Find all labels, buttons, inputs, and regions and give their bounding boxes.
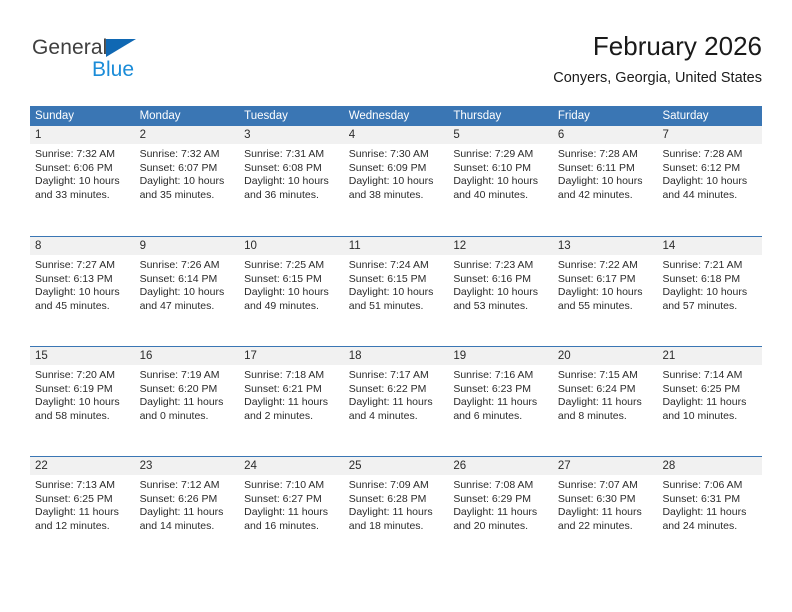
- daylight-text-line1: Daylight: 11 hours: [558, 396, 653, 410]
- day-number-band: 3: [239, 126, 344, 144]
- weekday-header-sunday: Sunday: [30, 106, 135, 126]
- day-cell[interactable]: 18 Sunrise: 7:17 AM Sunset: 6:22 PM Dayl…: [344, 347, 449, 456]
- daylight-text-line2: and 57 minutes.: [662, 300, 757, 314]
- day-details: Sunrise: 7:23 AM Sunset: 6:16 PM Dayligh…: [448, 255, 553, 313]
- sunset-text: Sunset: 6:25 PM: [662, 383, 757, 397]
- day-cell[interactable]: 17 Sunrise: 7:18 AM Sunset: 6:21 PM Dayl…: [239, 347, 344, 456]
- day-cell[interactable]: 25 Sunrise: 7:09 AM Sunset: 6:28 PM Dayl…: [344, 457, 449, 566]
- day-number: 18: [344, 347, 449, 365]
- sunset-text: Sunset: 6:24 PM: [558, 383, 653, 397]
- day-number: 16: [135, 347, 240, 365]
- day-details: Sunrise: 7:09 AM Sunset: 6:28 PM Dayligh…: [344, 475, 449, 533]
- day-details: Sunrise: 7:25 AM Sunset: 6:15 PM Dayligh…: [239, 255, 344, 313]
- day-number-band: 13: [553, 237, 658, 255]
- daylight-text-line2: and 6 minutes.: [453, 410, 548, 424]
- sunset-text: Sunset: 6:14 PM: [140, 273, 235, 287]
- day-number: 25: [344, 457, 449, 475]
- sunrise-text: Sunrise: 7:18 AM: [244, 369, 339, 383]
- daylight-text-line2: and 2 minutes.: [244, 410, 339, 424]
- day-cell[interactable]: 3 Sunrise: 7:31 AM Sunset: 6:08 PM Dayli…: [239, 126, 344, 236]
- day-number: 26: [448, 457, 553, 475]
- daylight-text-line2: and 58 minutes.: [35, 410, 130, 424]
- logo-triangle-icon: [106, 39, 136, 57]
- daylight-text-line2: and 20 minutes.: [453, 520, 548, 534]
- sunset-text: Sunset: 6:23 PM: [453, 383, 548, 397]
- daylight-text-line2: and 45 minutes.: [35, 300, 130, 314]
- day-details: Sunrise: 7:22 AM Sunset: 6:17 PM Dayligh…: [553, 255, 658, 313]
- daylight-text-line2: and 40 minutes.: [453, 189, 548, 203]
- day-number-band: 24: [239, 457, 344, 475]
- day-number: 23: [135, 457, 240, 475]
- page-header: General Blue February 2026 Conyers, Geor…: [30, 30, 762, 98]
- day-number: 1: [30, 126, 135, 144]
- sunset-text: Sunset: 6:12 PM: [662, 162, 757, 176]
- day-cell[interactable]: 9 Sunrise: 7:26 AM Sunset: 6:14 PM Dayli…: [135, 237, 240, 346]
- calendar-grid: Sunday Monday Tuesday Wednesday Thursday…: [30, 106, 762, 566]
- day-details: Sunrise: 7:27 AM Sunset: 6:13 PM Dayligh…: [30, 255, 135, 313]
- daylight-text-line1: Daylight: 11 hours: [662, 396, 757, 410]
- day-number-band: 18: [344, 347, 449, 365]
- day-number-band: 1: [30, 126, 135, 144]
- sunrise-text: Sunrise: 7:08 AM: [453, 479, 548, 493]
- day-cell[interactable]: 21 Sunrise: 7:14 AM Sunset: 6:25 PM Dayl…: [657, 347, 762, 456]
- sunset-text: Sunset: 6:06 PM: [35, 162, 130, 176]
- day-details: Sunrise: 7:08 AM Sunset: 6:29 PM Dayligh…: [448, 475, 553, 533]
- daylight-text-line1: Daylight: 11 hours: [453, 396, 548, 410]
- sunrise-text: Sunrise: 7:16 AM: [453, 369, 548, 383]
- day-cell[interactable]: 20 Sunrise: 7:15 AM Sunset: 6:24 PM Dayl…: [553, 347, 658, 456]
- daylight-text-line1: Daylight: 10 hours: [244, 286, 339, 300]
- day-cell[interactable]: 16 Sunrise: 7:19 AM Sunset: 6:20 PM Dayl…: [135, 347, 240, 456]
- day-number-band: 4: [344, 126, 449, 144]
- day-number: 19: [448, 347, 553, 365]
- sunrise-text: Sunrise: 7:30 AM: [349, 148, 444, 162]
- day-details: Sunrise: 7:31 AM Sunset: 6:08 PM Dayligh…: [239, 144, 344, 202]
- page-subtitle: Conyers, Georgia, United States: [553, 67, 762, 89]
- daylight-text-line1: Daylight: 11 hours: [244, 506, 339, 520]
- daylight-text-line2: and 53 minutes.: [453, 300, 548, 314]
- sunrise-text: Sunrise: 7:22 AM: [558, 259, 653, 273]
- day-number: 14: [657, 237, 762, 255]
- day-number: 4: [344, 126, 449, 144]
- sunset-text: Sunset: 6:09 PM: [349, 162, 444, 176]
- daylight-text-line2: and 4 minutes.: [349, 410, 444, 424]
- day-details: Sunrise: 7:14 AM Sunset: 6:25 PM Dayligh…: [657, 365, 762, 423]
- day-number: 22: [30, 457, 135, 475]
- day-details: Sunrise: 7:20 AM Sunset: 6:19 PM Dayligh…: [30, 365, 135, 423]
- day-details: Sunrise: 7:21 AM Sunset: 6:18 PM Dayligh…: [657, 255, 762, 313]
- daylight-text-line2: and 8 minutes.: [558, 410, 653, 424]
- sunset-text: Sunset: 6:28 PM: [349, 493, 444, 507]
- sunset-text: Sunset: 6:22 PM: [349, 383, 444, 397]
- day-details: Sunrise: 7:30 AM Sunset: 6:09 PM Dayligh…: [344, 144, 449, 202]
- sunset-text: Sunset: 6:27 PM: [244, 493, 339, 507]
- daylight-text-line1: Daylight: 10 hours: [35, 396, 130, 410]
- daylight-text-line1: Daylight: 10 hours: [35, 286, 130, 300]
- sunrise-text: Sunrise: 7:24 AM: [349, 259, 444, 273]
- day-number-band: 23: [135, 457, 240, 475]
- weekday-header-tuesday: Tuesday: [239, 106, 344, 126]
- day-number-band: 17: [239, 347, 344, 365]
- daylight-text-line1: Daylight: 11 hours: [349, 396, 444, 410]
- sunrise-text: Sunrise: 7:32 AM: [35, 148, 130, 162]
- day-details: Sunrise: 7:12 AM Sunset: 6:26 PM Dayligh…: [135, 475, 240, 533]
- general-blue-logo: General Blue: [32, 36, 232, 88]
- daylight-text-line1: Daylight: 11 hours: [453, 506, 548, 520]
- sunset-text: Sunset: 6:30 PM: [558, 493, 653, 507]
- sunset-text: Sunset: 6:15 PM: [349, 273, 444, 287]
- day-cell[interactable]: 26 Sunrise: 7:08 AM Sunset: 6:29 PM Dayl…: [448, 457, 553, 566]
- daylight-text-line2: and 51 minutes.: [349, 300, 444, 314]
- day-details: Sunrise: 7:29 AM Sunset: 6:10 PM Dayligh…: [448, 144, 553, 202]
- daylight-text-line1: Daylight: 11 hours: [349, 506, 444, 520]
- daylight-text-line1: Daylight: 10 hours: [558, 175, 653, 189]
- weekday-header-saturday: Saturday: [657, 106, 762, 126]
- day-cell[interactable]: 19 Sunrise: 7:16 AM Sunset: 6:23 PM Dayl…: [448, 347, 553, 456]
- sunset-text: Sunset: 6:20 PM: [140, 383, 235, 397]
- sunset-text: Sunset: 6:19 PM: [35, 383, 130, 397]
- daylight-text-line2: and 10 minutes.: [662, 410, 757, 424]
- day-cell[interactable]: 11 Sunrise: 7:24 AM Sunset: 6:15 PM Dayl…: [344, 237, 449, 346]
- day-number-band: 12: [448, 237, 553, 255]
- sunrise-text: Sunrise: 7:32 AM: [140, 148, 235, 162]
- day-number-band: 11: [344, 237, 449, 255]
- day-cell[interactable]: 14 Sunrise: 7:21 AM Sunset: 6:18 PM Dayl…: [657, 237, 762, 346]
- day-number-band: 27: [553, 457, 658, 475]
- daylight-text-line2: and 35 minutes.: [140, 189, 235, 203]
- sunrise-text: Sunrise: 7:29 AM: [453, 148, 548, 162]
- day-number-band: 7: [657, 126, 762, 144]
- sunrise-text: Sunrise: 7:10 AM: [244, 479, 339, 493]
- sunset-text: Sunset: 6:26 PM: [140, 493, 235, 507]
- sunset-text: Sunset: 6:25 PM: [35, 493, 130, 507]
- day-number: 21: [657, 347, 762, 365]
- daylight-text-line1: Daylight: 10 hours: [558, 286, 653, 300]
- day-cell[interactable]: 28 Sunrise: 7:06 AM Sunset: 6:31 PM Dayl…: [657, 457, 762, 566]
- sunset-text: Sunset: 6:16 PM: [453, 273, 548, 287]
- day-details: Sunrise: 7:32 AM Sunset: 6:07 PM Dayligh…: [135, 144, 240, 202]
- weekday-header-row: Sunday Monday Tuesday Wednesday Thursday…: [30, 106, 762, 126]
- daylight-text-line2: and 22 minutes.: [558, 520, 653, 534]
- daylight-text-line2: and 38 minutes.: [349, 189, 444, 203]
- week-row: 1 Sunrise: 7:32 AM Sunset: 6:06 PM Dayli…: [30, 126, 762, 236]
- daylight-text-line1: Daylight: 11 hours: [244, 396, 339, 410]
- day-number: 3: [239, 126, 344, 144]
- day-details: Sunrise: 7:06 AM Sunset: 6:31 PM Dayligh…: [657, 475, 762, 533]
- daylight-text-line1: Daylight: 10 hours: [662, 175, 757, 189]
- day-details: Sunrise: 7:28 AM Sunset: 6:11 PM Dayligh…: [553, 144, 658, 202]
- daylight-text-line2: and 55 minutes.: [558, 300, 653, 314]
- day-number-band: 2: [135, 126, 240, 144]
- daylight-text-line1: Daylight: 10 hours: [349, 286, 444, 300]
- daylight-text-line1: Daylight: 10 hours: [453, 286, 548, 300]
- day-cell[interactable]: 1 Sunrise: 7:32 AM Sunset: 6:06 PM Dayli…: [30, 126, 135, 236]
- day-cell[interactable]: 6 Sunrise: 7:28 AM Sunset: 6:11 PM Dayli…: [553, 126, 658, 236]
- daylight-text-line1: Daylight: 11 hours: [140, 506, 235, 520]
- day-cell[interactable]: 27 Sunrise: 7:07 AM Sunset: 6:30 PM Dayl…: [553, 457, 658, 566]
- day-number-band: 6: [553, 126, 658, 144]
- daylight-text-line1: Daylight: 10 hours: [140, 286, 235, 300]
- day-number-band: 19: [448, 347, 553, 365]
- weekday-header-wednesday: Wednesday: [344, 106, 449, 126]
- week-row: 22 Sunrise: 7:13 AM Sunset: 6:25 PM Dayl…: [30, 456, 762, 566]
- day-cell[interactable]: 12 Sunrise: 7:23 AM Sunset: 6:16 PM Dayl…: [448, 237, 553, 346]
- day-details: Sunrise: 7:32 AM Sunset: 6:06 PM Dayligh…: [30, 144, 135, 202]
- day-number: 10: [239, 237, 344, 255]
- daylight-text-line2: and 49 minutes.: [244, 300, 339, 314]
- sunset-text: Sunset: 6:15 PM: [244, 273, 339, 287]
- day-number-band: 10: [239, 237, 344, 255]
- sunrise-text: Sunrise: 7:14 AM: [662, 369, 757, 383]
- week-row: 15 Sunrise: 7:20 AM Sunset: 6:19 PM Dayl…: [30, 346, 762, 456]
- day-number: 20: [553, 347, 658, 365]
- day-number-band: 21: [657, 347, 762, 365]
- daylight-text-line1: Daylight: 10 hours: [349, 175, 444, 189]
- day-cell[interactable]: 15 Sunrise: 7:20 AM Sunset: 6:19 PM Dayl…: [30, 347, 135, 456]
- day-number: 12: [448, 237, 553, 255]
- sunrise-text: Sunrise: 7:23 AM: [453, 259, 548, 273]
- day-number: 6: [553, 126, 658, 144]
- sunrise-text: Sunrise: 7:25 AM: [244, 259, 339, 273]
- day-number: 17: [239, 347, 344, 365]
- day-number: 24: [239, 457, 344, 475]
- daylight-text-line1: Daylight: 11 hours: [662, 506, 757, 520]
- day-number-band: 16: [135, 347, 240, 365]
- day-details: Sunrise: 7:13 AM Sunset: 6:25 PM Dayligh…: [30, 475, 135, 533]
- day-cell[interactable]: 2 Sunrise: 7:32 AM Sunset: 6:07 PM Dayli…: [135, 126, 240, 236]
- sunset-text: Sunset: 6:21 PM: [244, 383, 339, 397]
- weekday-header-friday: Friday: [553, 106, 658, 126]
- day-number: 2: [135, 126, 240, 144]
- daylight-text-line1: Daylight: 11 hours: [35, 506, 130, 520]
- daylight-text-line2: and 33 minutes.: [35, 189, 130, 203]
- day-cell[interactable]: 5 Sunrise: 7:29 AM Sunset: 6:10 PM Dayli…: [448, 126, 553, 236]
- sunrise-text: Sunrise: 7:17 AM: [349, 369, 444, 383]
- logo-text-blue: Blue: [92, 58, 134, 82]
- daylight-text-line2: and 36 minutes.: [244, 189, 339, 203]
- calendar-page: General Blue February 2026 Conyers, Geor…: [0, 0, 792, 612]
- sunset-text: Sunset: 6:18 PM: [662, 273, 757, 287]
- sunset-text: Sunset: 6:31 PM: [662, 493, 757, 507]
- sunrise-text: Sunrise: 7:06 AM: [662, 479, 757, 493]
- daylight-text-line2: and 44 minutes.: [662, 189, 757, 203]
- day-details: Sunrise: 7:18 AM Sunset: 6:21 PM Dayligh…: [239, 365, 344, 423]
- daylight-text-line1: Daylight: 11 hours: [558, 506, 653, 520]
- day-details: Sunrise: 7:17 AM Sunset: 6:22 PM Dayligh…: [344, 365, 449, 423]
- day-number: 13: [553, 237, 658, 255]
- day-cell[interactable]: 8 Sunrise: 7:27 AM Sunset: 6:13 PM Dayli…: [30, 237, 135, 346]
- day-cell[interactable]: 4 Sunrise: 7:30 AM Sunset: 6:09 PM Dayli…: [344, 126, 449, 236]
- sunrise-text: Sunrise: 7:28 AM: [558, 148, 653, 162]
- day-number-band: 28: [657, 457, 762, 475]
- day-cell[interactable]: 23 Sunrise: 7:12 AM Sunset: 6:26 PM Dayl…: [135, 457, 240, 566]
- daylight-text-line2: and 47 minutes.: [140, 300, 235, 314]
- day-number-band: 26: [448, 457, 553, 475]
- day-details: Sunrise: 7:24 AM Sunset: 6:15 PM Dayligh…: [344, 255, 449, 313]
- day-details: Sunrise: 7:07 AM Sunset: 6:30 PM Dayligh…: [553, 475, 658, 533]
- weekday-header-monday: Monday: [135, 106, 240, 126]
- day-number-band: 5: [448, 126, 553, 144]
- sunrise-text: Sunrise: 7:19 AM: [140, 369, 235, 383]
- sunset-text: Sunset: 6:08 PM: [244, 162, 339, 176]
- day-number: 5: [448, 126, 553, 144]
- day-details: Sunrise: 7:10 AM Sunset: 6:27 PM Dayligh…: [239, 475, 344, 533]
- day-number: 28: [657, 457, 762, 475]
- day-number: 27: [553, 457, 658, 475]
- daylight-text-line2: and 14 minutes.: [140, 520, 235, 534]
- daylight-text-line1: Daylight: 10 hours: [244, 175, 339, 189]
- sunrise-text: Sunrise: 7:20 AM: [35, 369, 130, 383]
- day-cell[interactable]: 7 Sunrise: 7:28 AM Sunset: 6:12 PM Dayli…: [657, 126, 762, 236]
- day-cell[interactable]: 13 Sunrise: 7:22 AM Sunset: 6:17 PM Dayl…: [553, 237, 658, 346]
- sunrise-text: Sunrise: 7:15 AM: [558, 369, 653, 383]
- day-cell[interactable]: 22 Sunrise: 7:13 AM Sunset: 6:25 PM Dayl…: [30, 457, 135, 566]
- sunset-text: Sunset: 6:07 PM: [140, 162, 235, 176]
- sunset-text: Sunset: 6:29 PM: [453, 493, 548, 507]
- daylight-text-line1: Daylight: 10 hours: [35, 175, 130, 189]
- daylight-text-line2: and 24 minutes.: [662, 520, 757, 534]
- day-number: 9: [135, 237, 240, 255]
- day-cell[interactable]: 24 Sunrise: 7:10 AM Sunset: 6:27 PM Dayl…: [239, 457, 344, 566]
- sunrise-text: Sunrise: 7:28 AM: [662, 148, 757, 162]
- sunset-text: Sunset: 6:10 PM: [453, 162, 548, 176]
- sunset-text: Sunset: 6:17 PM: [558, 273, 653, 287]
- sunrise-text: Sunrise: 7:27 AM: [35, 259, 130, 273]
- sunrise-text: Sunrise: 7:13 AM: [35, 479, 130, 493]
- day-number-band: 15: [30, 347, 135, 365]
- day-cell[interactable]: 10 Sunrise: 7:25 AM Sunset: 6:15 PM Dayl…: [239, 237, 344, 346]
- page-title: February 2026: [553, 30, 762, 62]
- sunrise-text: Sunrise: 7:21 AM: [662, 259, 757, 273]
- daylight-text-line1: Daylight: 10 hours: [662, 286, 757, 300]
- day-details: Sunrise: 7:16 AM Sunset: 6:23 PM Dayligh…: [448, 365, 553, 423]
- weekday-header-thursday: Thursday: [448, 106, 553, 126]
- daylight-text-line2: and 0 minutes.: [140, 410, 235, 424]
- daylight-text-line2: and 16 minutes.: [244, 520, 339, 534]
- day-details: Sunrise: 7:19 AM Sunset: 6:20 PM Dayligh…: [135, 365, 240, 423]
- sunrise-text: Sunrise: 7:12 AM: [140, 479, 235, 493]
- day-number: 8: [30, 237, 135, 255]
- daylight-text-line1: Daylight: 10 hours: [453, 175, 548, 189]
- day-number-band: 8: [30, 237, 135, 255]
- day-details: Sunrise: 7:26 AM Sunset: 6:14 PM Dayligh…: [135, 255, 240, 313]
- daylight-text-line2: and 12 minutes.: [35, 520, 130, 534]
- daylight-text-line1: Daylight: 10 hours: [140, 175, 235, 189]
- title-block: February 2026 Conyers, Georgia, United S…: [553, 30, 762, 89]
- day-number-band: 20: [553, 347, 658, 365]
- sunrise-text: Sunrise: 7:26 AM: [140, 259, 235, 273]
- day-number-band: 22: [30, 457, 135, 475]
- day-number-band: 14: [657, 237, 762, 255]
- day-number: 15: [30, 347, 135, 365]
- day-number-band: 9: [135, 237, 240, 255]
- daylight-text-line2: and 18 minutes.: [349, 520, 444, 534]
- sunrise-text: Sunrise: 7:07 AM: [558, 479, 653, 493]
- day-number: 7: [657, 126, 762, 144]
- day-details: Sunrise: 7:15 AM Sunset: 6:24 PM Dayligh…: [553, 365, 658, 423]
- day-number: 11: [344, 237, 449, 255]
- logo-text-general: General: [32, 36, 107, 60]
- day-number-band: 25: [344, 457, 449, 475]
- sunset-text: Sunset: 6:13 PM: [35, 273, 130, 287]
- sunrise-text: Sunrise: 7:31 AM: [244, 148, 339, 162]
- sunset-text: Sunset: 6:11 PM: [558, 162, 653, 176]
- daylight-text-line1: Daylight: 11 hours: [140, 396, 235, 410]
- day-details: Sunrise: 7:28 AM Sunset: 6:12 PM Dayligh…: [657, 144, 762, 202]
- daylight-text-line2: and 42 minutes.: [558, 189, 653, 203]
- sunrise-text: Sunrise: 7:09 AM: [349, 479, 444, 493]
- week-row: 8 Sunrise: 7:27 AM Sunset: 6:13 PM Dayli…: [30, 236, 762, 346]
